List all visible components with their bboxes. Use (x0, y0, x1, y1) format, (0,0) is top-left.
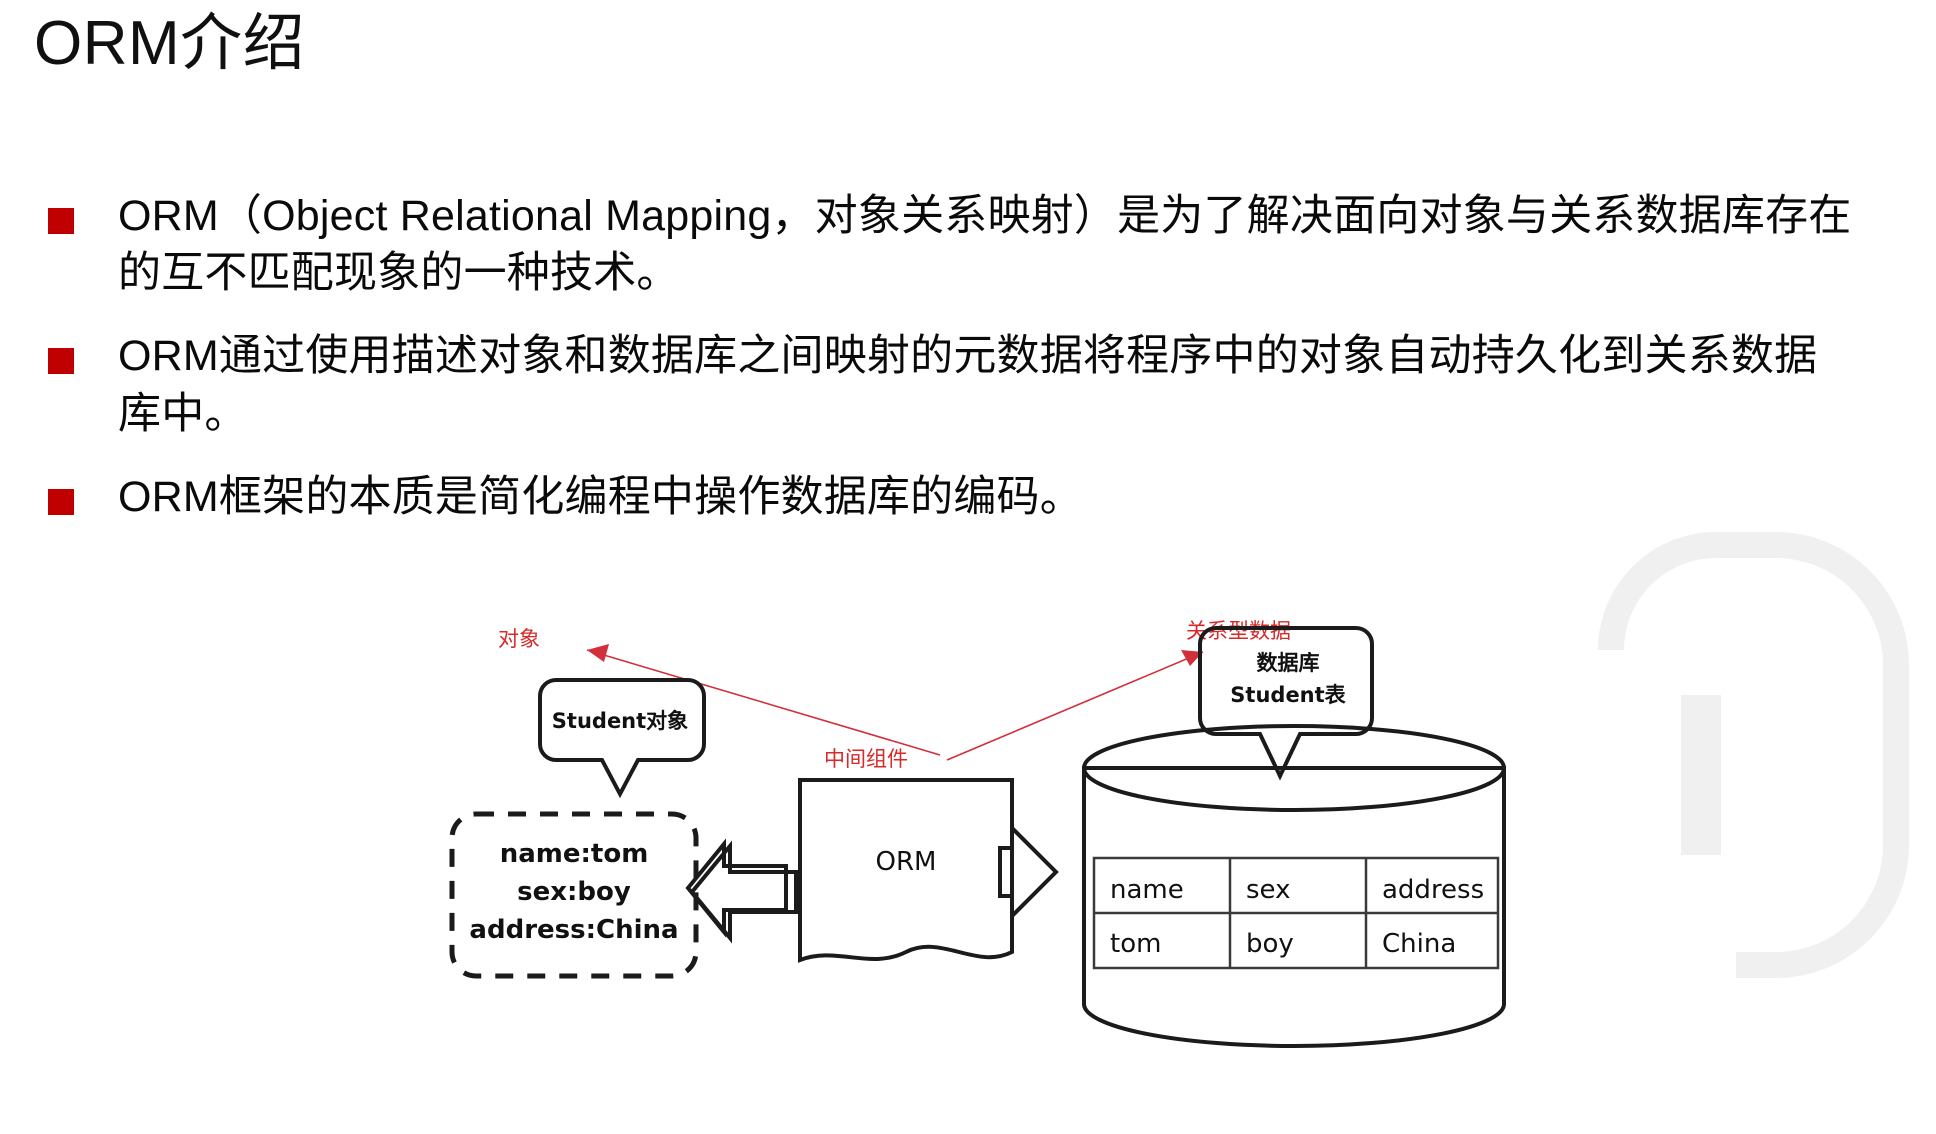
db-table-cell-sex: boy (1246, 929, 1294, 959)
object-field-name: name:tom (500, 839, 649, 869)
db-table-header-name: name (1110, 875, 1184, 905)
relational-annotation-arrow (947, 650, 1203, 760)
callout-student-object: Student对象 (540, 680, 704, 794)
db-table: name sex address tom boy China (1094, 858, 1498, 968)
orm-label: ORM (876, 847, 937, 877)
object-field-sex: sex:boy (517, 877, 631, 907)
callout-right-line2: Student表 (1230, 683, 1346, 707)
bullet-text: ORM通过使用描述对象和数据库之间映射的元数据将程序中的对象自动持久化到关系数据… (118, 328, 1858, 442)
db-table-cell-address: China (1382, 929, 1456, 959)
red-square-bullet-icon (48, 208, 74, 234)
right-double-arrow-icon (1000, 828, 1056, 916)
page-title: ORM介绍 (34, 8, 305, 79)
object-annotation-arrow (587, 644, 940, 755)
bullet-text: ORM框架的本质是简化编程中操作数据库的编码。 (118, 469, 1858, 526)
red-square-bullet-icon (48, 348, 74, 374)
list-item: ORM通过使用描述对象和数据库之间映射的元数据将程序中的对象自动持久化到关系数据… (48, 328, 1858, 442)
label-object: 对象 (498, 627, 540, 651)
orm-component-box: ORM (800, 780, 1012, 960)
label-middle-component: 中间组件 (824, 747, 908, 771)
orm-diagram: 对象 中间组件 关系型数据 Student对象 name:tom sex:boy… (0, 600, 1936, 1134)
callout-database-table: 数据库 Student表 (1200, 628, 1372, 776)
db-table-header-address: address (1382, 875, 1484, 905)
object-field-address: address:China (469, 915, 678, 945)
bullet-text: ORM（Object Relational Mapping，对象关系映射）是为了… (118, 188, 1858, 302)
bullet-list: ORM（Object Relational Mapping，对象关系映射）是为了… (48, 188, 1858, 552)
db-table-header-sex: sex (1246, 875, 1290, 905)
callout-left-text: Student对象 (552, 709, 688, 733)
object-box: name:tom sex:boy address:China (452, 814, 696, 976)
list-item: ORM框架的本质是简化编程中操作数据库的编码。 (48, 469, 1858, 526)
callout-right-line1: 数据库 (1257, 651, 1320, 675)
db-table-cell-name: tom (1110, 929, 1161, 959)
left-double-arrow-icon (688, 844, 796, 938)
list-item: ORM（Object Relational Mapping，对象关系映射）是为了… (48, 188, 1858, 302)
red-square-bullet-icon (48, 489, 74, 515)
